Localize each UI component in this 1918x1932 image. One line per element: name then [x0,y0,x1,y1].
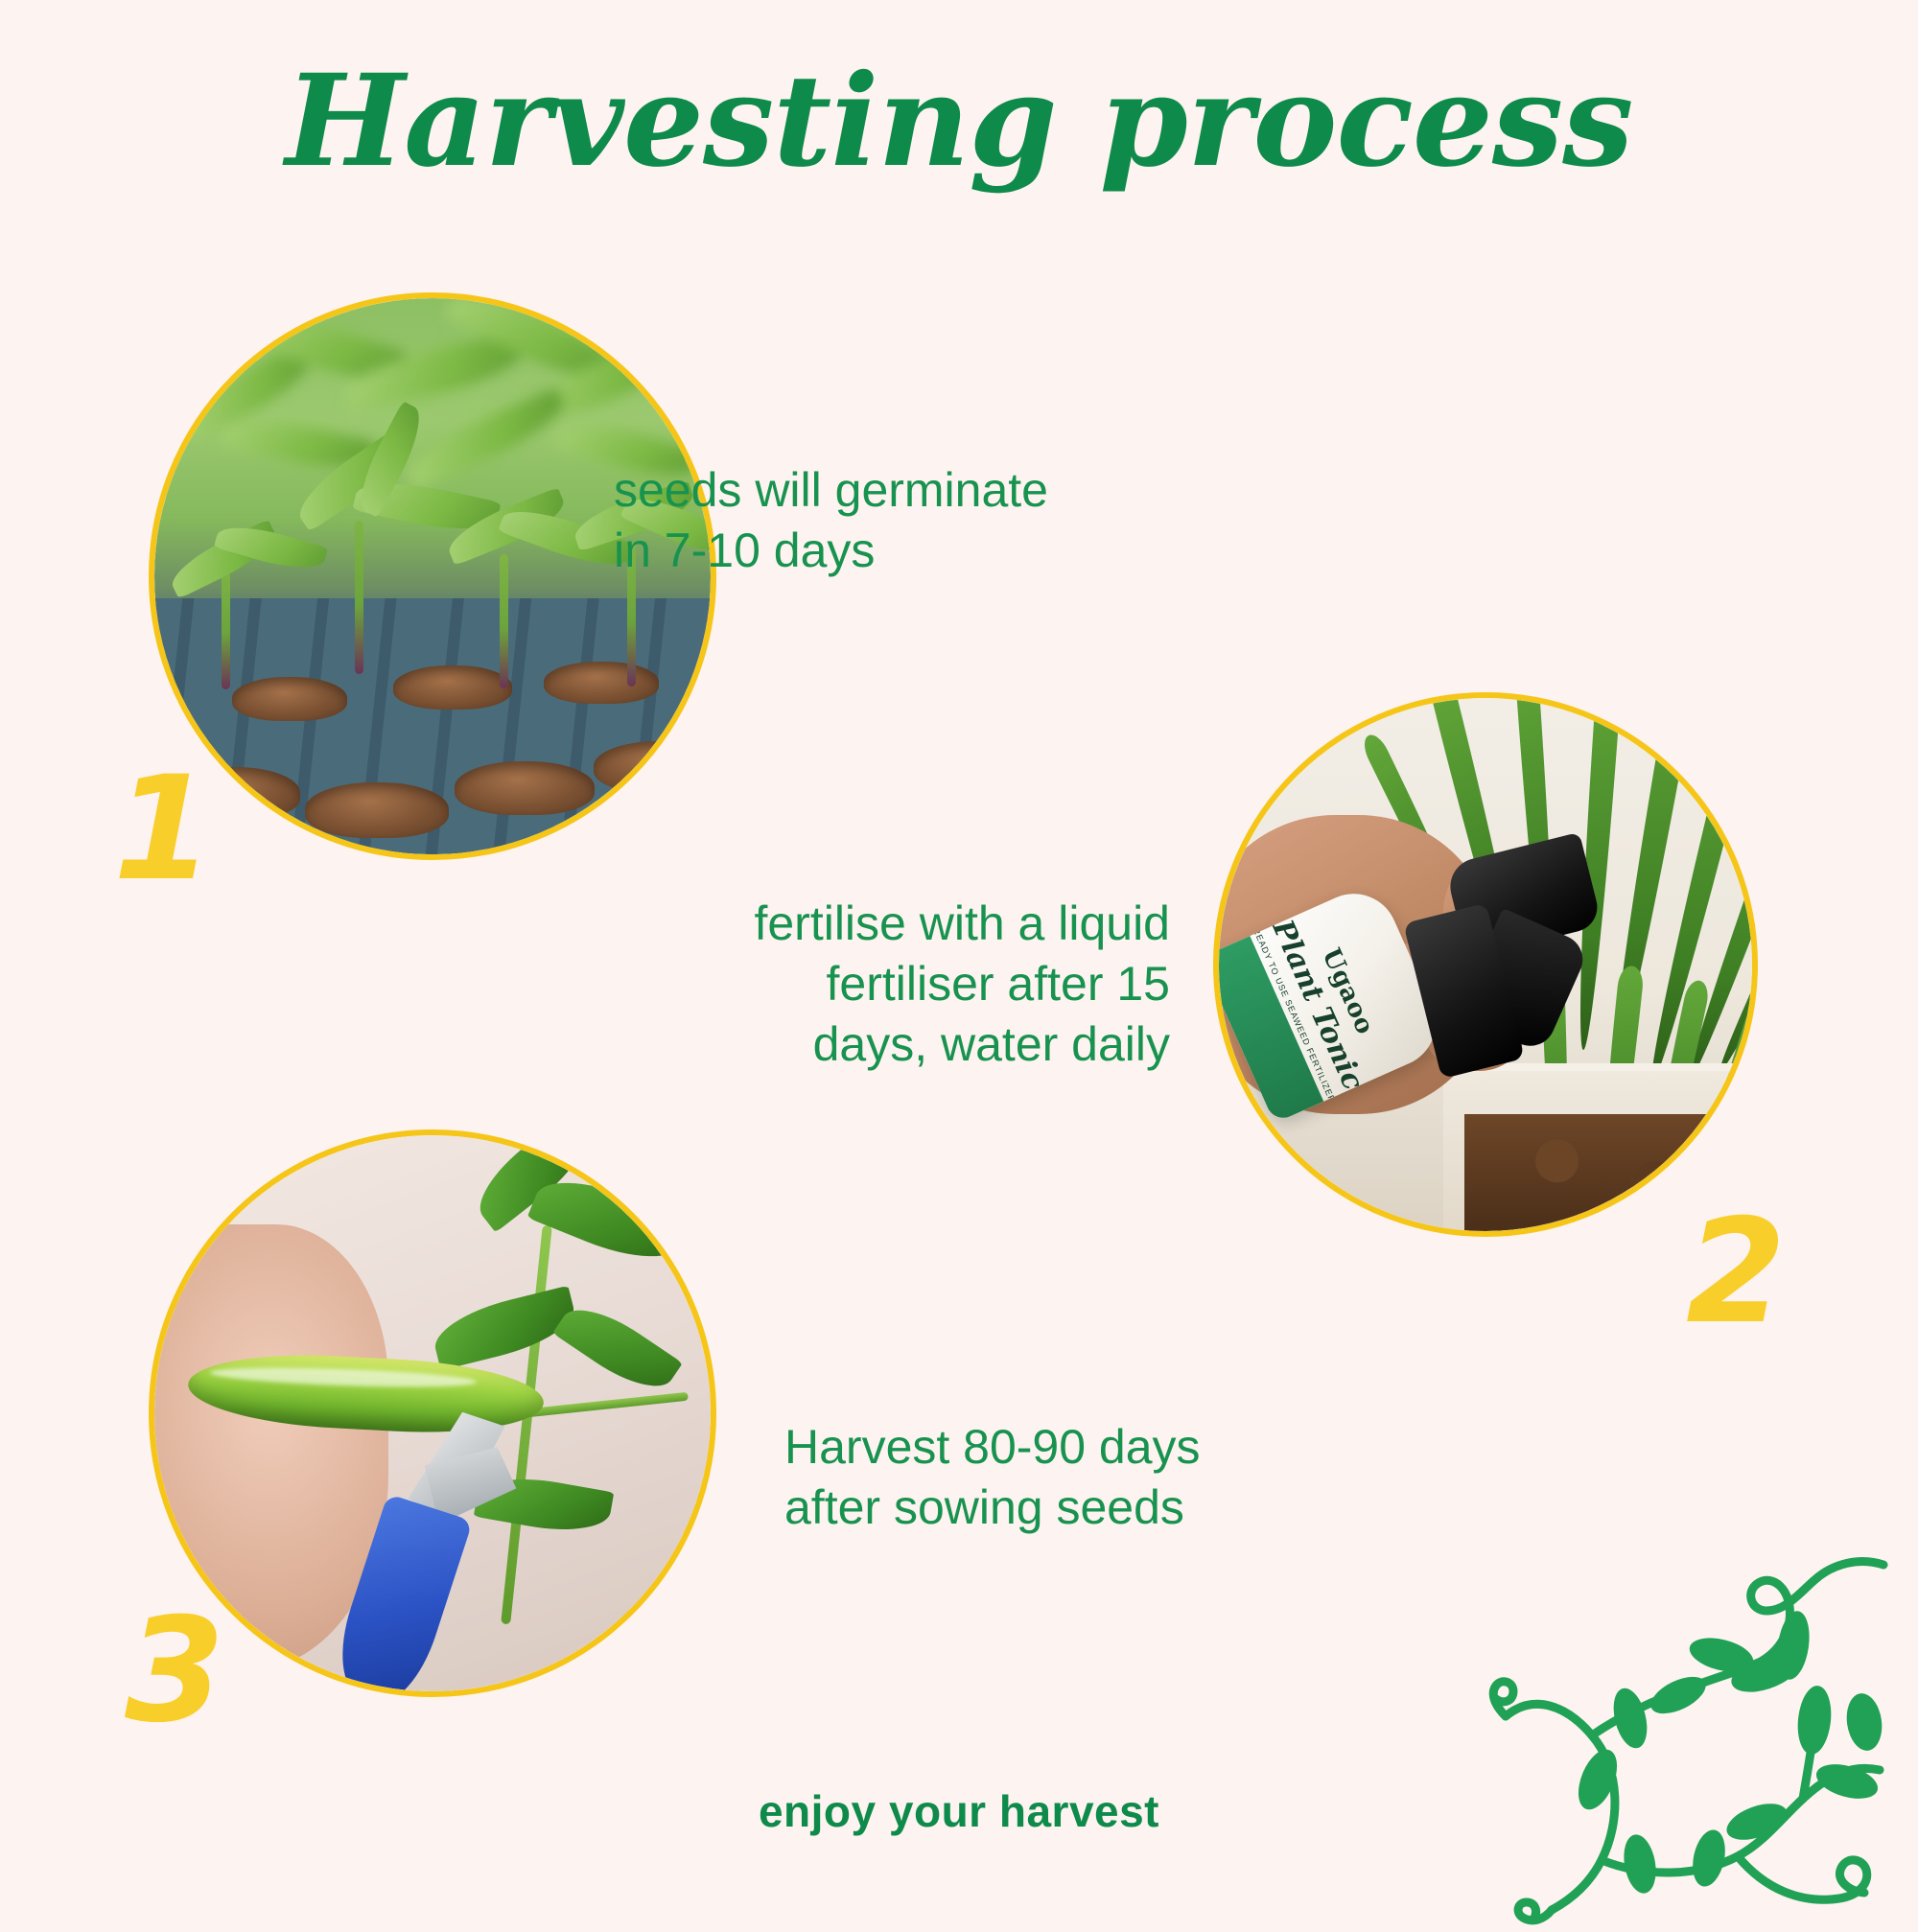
step-1-number: 1 [113,757,209,901]
step-3-photo [149,1129,716,1697]
page-title: Harvesting process [0,56,1918,189]
step-1-caption: seeds will germinate in 7-10 days [614,460,1151,581]
step-2-caption: fertilise with a liquid fertiliser after… [403,894,1170,1075]
vine-illustration [1477,1477,1918,1927]
step-3-caption: Harvest 80-90 days after sowing seeds [784,1417,1360,1538]
vine-icon [1477,1477,1918,1927]
plant-tonic-spray-art: Ugaoo Plant Tonic READY TO USE SEAWEED F… [1219,698,1752,1231]
step-3-number: 3 [125,1599,221,1743]
step-2-number: 2 [1686,1200,1782,1344]
step-2-photo: Ugaoo Plant Tonic READY TO USE SEAWEED F… [1213,692,1758,1237]
infographic-canvas: Harvesting process [0,0,1918,1918]
chilli-harvest-art [154,1135,711,1691]
step-3-photo-image [154,1135,711,1691]
step-2-photo-image: Ugaoo Plant Tonic READY TO USE SEAWEED F… [1219,698,1752,1231]
